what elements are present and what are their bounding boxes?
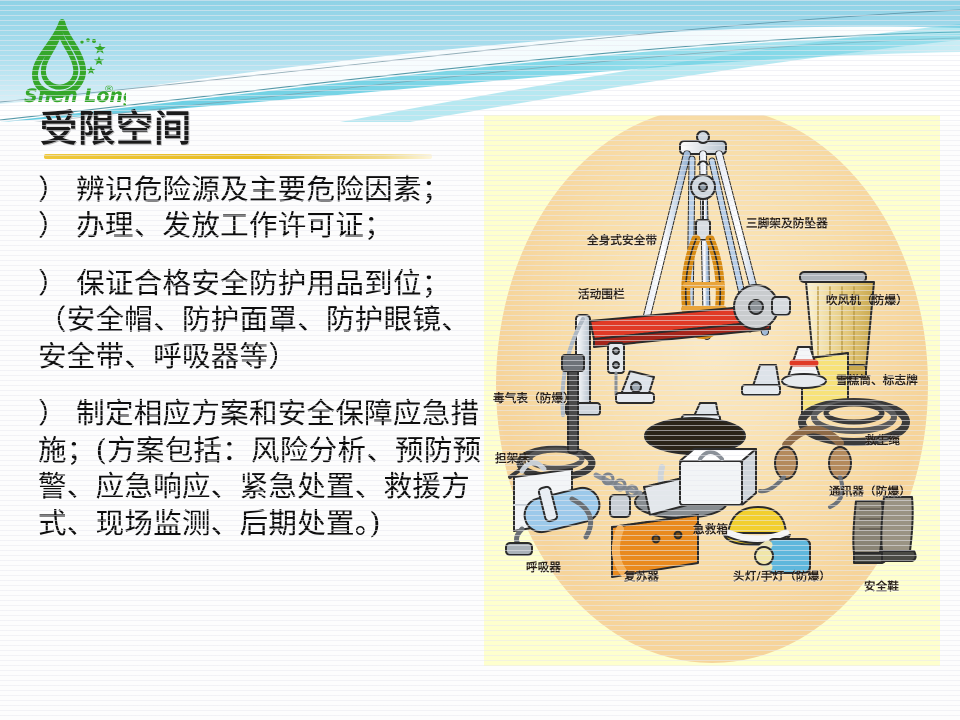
pic-label-safety-shoes: 安全鞋: [864, 578, 899, 594]
pic-label-blower-explosion: 吹风机（防爆）: [826, 292, 908, 308]
slide-canvas: Shen Long ® 受限空间 ） 辨识危险源及主要危险因素； ） 办理、发放…: [0, 0, 960, 720]
body-paragraph-2: ） 办理、发放工作许可证；: [38, 208, 490, 244]
pic-label-resuscitator: 复苏器: [624, 568, 659, 584]
water-drop-icon: [35, 22, 83, 94]
title-underline-rule: [44, 154, 432, 159]
logo-trademark-text: ®: [104, 84, 114, 95]
pic-label-gas-detector: 毒气表（防爆）: [493, 390, 575, 406]
pic-label-cone-sign-board: 雪糕筒、标志牌: [836, 372, 918, 388]
company-logo: Shen Long ®: [16, 14, 126, 106]
equipment-illustration-panel: 全身式安全带 三脚架及防坠器 活动围栏 吹风机（防爆） 雪糕筒、标志牌 毒气表（…: [484, 115, 940, 666]
pic-label-first-aid-kit: 急救箱: [693, 521, 728, 537]
pic-label-head-hand-lamp: 头灯/手灯（防爆）: [733, 568, 831, 584]
first-aid-kit-shape: [680, 449, 756, 505]
chain-hoist-shape: [596, 474, 640, 517]
pic-label-full-body-harness: 全身式安全带: [587, 232, 657, 248]
page-title: 受限空间: [40, 110, 192, 149]
pic-label-breathing-apparatus: 呼吸器: [526, 559, 561, 575]
pic-label-stretcher-bed: 担架床: [495, 450, 530, 466]
pic-label-life-rope: 救生绳: [865, 432, 900, 448]
pic-label-movable-fence: 活动围栏: [578, 286, 625, 302]
body-paragraph-3: ） 保证合格安全防护用品到位；（安全帽、防护面罩、防护眼镜、安全带、呼吸器等）: [38, 266, 490, 375]
tripod-feet-shapes: [616, 365, 780, 425]
safety-boots-shape: [853, 497, 915, 563]
pic-label-communicator: 通讯器（防爆）: [829, 483, 911, 499]
body-paragraph-1: ） 辨识危险源及主要危险因素；: [38, 172, 490, 208]
pic-label-tripod-fall-arrest: 三脚架及防坠器: [746, 215, 828, 231]
body-paragraph-4: ） 制定相应方案和安全保障应急措施；(方案包括：风险分析、预防预警、应急响应、紧…: [38, 396, 490, 542]
body-text-block: ） 辨识危险源及主要危险因素； ） 办理、发放工作许可证； ） 保证合格安全防护…: [38, 172, 490, 542]
winch-wheel-shape: [734, 285, 790, 329]
header-banner: [0, 0, 960, 122]
